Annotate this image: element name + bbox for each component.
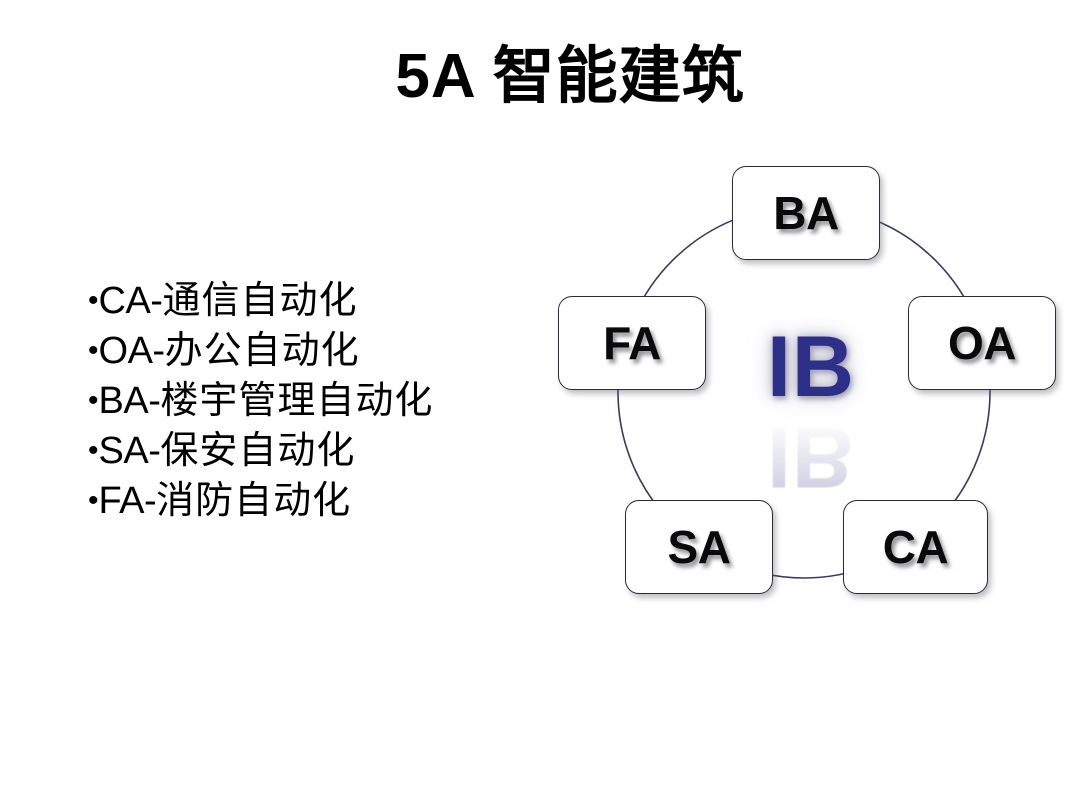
center-wordmark-label: IB xyxy=(726,322,896,412)
diagram-node-label: OA xyxy=(948,316,1016,370)
list-item-code: BA- xyxy=(99,380,161,422)
diagram-node-ca[interactable]: CA xyxy=(843,500,988,594)
list-item: •FA-消防自动化 xyxy=(88,476,528,526)
list-item: •OA-办公自动化 xyxy=(88,326,528,376)
list-item-code: FA- xyxy=(99,480,157,522)
bullet-dot-icon: • xyxy=(88,384,99,417)
diagram-node-fa[interactable]: FA xyxy=(558,296,706,390)
diagram-node-ba[interactable]: BA xyxy=(732,166,880,260)
feature-bullet-list: •CA-通信自动化 •OA-办公自动化 •BA-楼宇管理自动化 •SA-保安自动… xyxy=(88,276,528,526)
list-item-code: SA- xyxy=(99,430,161,472)
bullet-dot-icon: • xyxy=(88,334,99,367)
list-item: •CA-通信自动化 xyxy=(88,276,528,326)
bullet-dot-icon: • xyxy=(88,284,99,317)
list-item: •SA-保安自动化 xyxy=(88,426,528,476)
diagram-node-label: FA xyxy=(603,316,661,370)
page-title: 5A 智能建筑 xyxy=(0,44,1080,109)
center-wordmark-reflection: IB xyxy=(726,414,896,500)
bullet-dot-icon: • xyxy=(88,434,99,467)
cycle-diagram: IB IB BA OA CA SA FA xyxy=(540,150,1080,610)
list-item-text: 通信自动化 xyxy=(162,280,357,322)
list-item-code: CA- xyxy=(99,280,163,322)
diagram-node-label: SA xyxy=(668,520,731,574)
list-item: •BA-楼宇管理自动化 xyxy=(88,376,528,426)
list-item-text: 楼宇管理自动化 xyxy=(160,380,433,422)
list-item-text: 消防自动化 xyxy=(156,480,351,522)
list-item-text: 办公自动化 xyxy=(165,330,360,372)
bullet-dot-icon: • xyxy=(88,484,99,517)
diagram-node-label: CA xyxy=(883,520,948,574)
diagram-node-sa[interactable]: SA xyxy=(625,500,773,594)
list-item-text: 保安自动化 xyxy=(160,430,355,472)
center-wordmark: IB IB xyxy=(726,322,896,512)
list-item-code: OA- xyxy=(99,330,165,372)
diagram-node-label: BA xyxy=(773,186,838,240)
diagram-node-oa[interactable]: OA xyxy=(908,296,1056,390)
